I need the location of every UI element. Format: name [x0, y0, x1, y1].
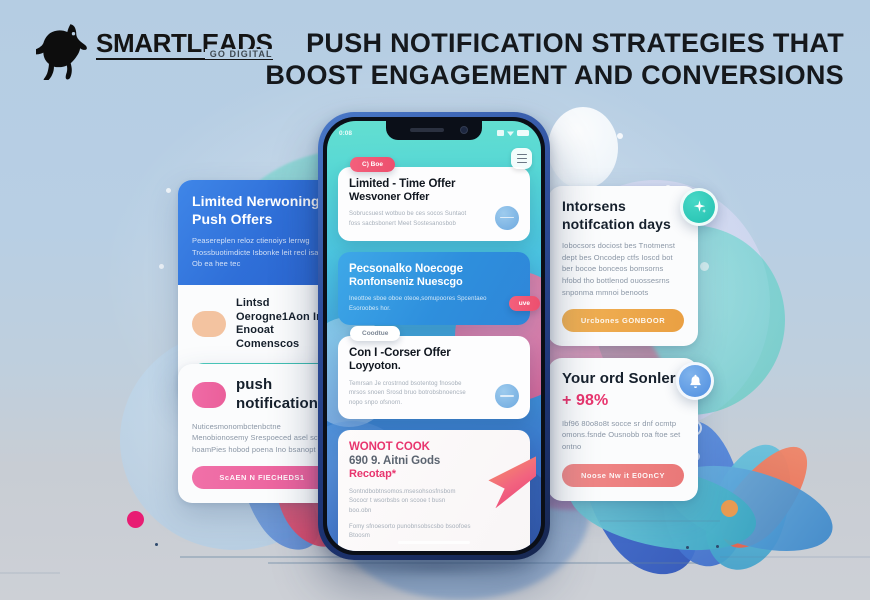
- decor-petal-orange: [706, 432, 824, 561]
- screen-card-personalized-message[interactable]: Pecsonalko Noecoge Ronfonseniz Nuescgo I…: [338, 252, 530, 326]
- screen-card-title: Limited - Time Offer: [349, 177, 519, 191]
- user-avatar-icon: [495, 206, 519, 230]
- avatar-line: [500, 217, 514, 219]
- avatar-line: [500, 395, 514, 397]
- user-avatar-icon: [495, 384, 519, 408]
- screen-card-body: Sontndbobtnsomos.msesohsosfnsbom Sococr …: [349, 488, 468, 517]
- sparkle-icon: [691, 199, 708, 216]
- screen-card-title: Pecsonalko Noecoge: [349, 262, 519, 276]
- decor-dot-white-4: [617, 133, 623, 139]
- screen-card-subtitle: Wesvoner Offer: [349, 191, 519, 204]
- earpiece-speaker: [410, 128, 444, 132]
- card-cta-button[interactable]: Urcbones GONBOOR: [562, 309, 684, 332]
- decor-dot-small-2: [686, 546, 689, 549]
- card-cta-button[interactable]: Noose Nw it E0OnCY: [562, 464, 684, 487]
- screen-card-title: WONOT COOK: [349, 440, 519, 454]
- screen-card-wonot-cook[interactable]: WONOT COOK 690 9. Aitni Gods Recotap* So…: [338, 430, 530, 551]
- card-title: Intorsens notifcation days: [562, 198, 684, 233]
- menu-line-2: [517, 158, 527, 160]
- decor-dot-small-1: [155, 543, 158, 546]
- card-cta-button[interactable]: ScAEN N FIECHEDS1: [192, 466, 332, 489]
- notification-bell-badge-icon: [676, 362, 714, 400]
- menu-line-3: [517, 162, 527, 164]
- decor-dot-white-2: [159, 264, 164, 269]
- decor-dot-small-3: [716, 545, 719, 548]
- decor-petal-cyan-2: [692, 433, 808, 581]
- card-content: Intorsens notifcation days Iobocsors doc…: [548, 186, 698, 346]
- brand-wordmark: SMARTLEADS GO DIGITAL: [96, 22, 273, 60]
- phone-screen[interactable]: 0:08 C) Boe Limited -: [327, 121, 541, 551]
- decor-dot-orange: [721, 500, 738, 517]
- screen-card-body: Ineottoe sboe oboe oteoe,somupoores Spce…: [349, 295, 492, 314]
- card-row: push notifications: [192, 376, 332, 414]
- screen-card-subtitle: Loyyoton.: [349, 360, 519, 373]
- screen-card-tag: C) Boe: [350, 157, 395, 172]
- menu-line-1: [517, 154, 527, 156]
- card-body: Nuticesmonombctenbctne Menobionosemy Sre…: [192, 421, 332, 456]
- screen-card-tag-right: uve: [509, 296, 540, 311]
- card-pill-icon: [192, 382, 226, 408]
- decor-ground-line-5: [0, 572, 60, 574]
- screen-card-body-2: Fomy sfnoesorto punobnsobscsbo bsoofoes …: [349, 523, 492, 542]
- decor-dot-white-5: [700, 262, 709, 271]
- card-metric: + 98%: [562, 391, 684, 411]
- screen-card-body: Temrsan Je crostrnod bsotentog fnosobe m…: [349, 380, 475, 409]
- screen-card-tag: Coodtue: [350, 326, 400, 341]
- banner-header: SMARTLEADS GO DIGITAL PUSH NOTIFICATION …: [0, 0, 870, 120]
- card-body: Iobocsors dociost bes Tnotmenst dept bes…: [562, 240, 684, 298]
- front-camera-icon: [460, 126, 468, 134]
- decor-dot-pink: [127, 511, 144, 528]
- screen-card-subtitle: Ronfonseniz Nuescgo: [349, 276, 519, 289]
- screen-card-conversion-offer[interactable]: Coodtue Con I -Corser Offer Loyyoton. Te…: [338, 336, 530, 419]
- bell-icon: [687, 373, 704, 390]
- sparkle-badge-icon: [680, 188, 718, 226]
- card-pill-icon: [192, 311, 226, 337]
- wifi-icon: [507, 130, 514, 136]
- phone-bezel: 0:08 C) Boe Limited -: [323, 117, 545, 555]
- screen-card-body: Sobrucsuest wotbuo be ces socos Suntaot …: [349, 210, 475, 229]
- floating-card-notification-days[interactable]: Intorsens notifcation days Iobocsors doc…: [548, 186, 698, 346]
- home-indicator[interactable]: [398, 541, 470, 545]
- screen-content: C) Boe Limited - Time Offer Wesvoner Off…: [327, 167, 541, 551]
- status-time: 0:08: [339, 130, 352, 137]
- decor-ground-line-4: [720, 556, 870, 558]
- phone-mockup: 0:08 C) Boe Limited -: [318, 112, 550, 560]
- battery-icon: [517, 130, 529, 136]
- banner-canvas: SMARTLEADS GO DIGITAL PUSH NOTIFICATION …: [0, 0, 870, 600]
- horse-logo-icon: [36, 22, 92, 80]
- screen-card-title: Con I -Corser Offer: [349, 346, 519, 360]
- decor-dot-white-1: [166, 188, 171, 193]
- screen-card-limited-time-offer[interactable]: C) Boe Limited - Time Offer Wesvoner Off…: [338, 167, 530, 241]
- card-title: Your ord Sonler: [562, 370, 684, 389]
- hamburger-menu-icon[interactable]: [511, 148, 532, 169]
- brand-logo[interactable]: SMARTLEADS GO DIGITAL: [36, 22, 273, 80]
- page-title: PUSH NOTIFICATION STRATEGIES THAT BOOST …: [264, 28, 844, 92]
- card-body: Ibf96 80o8o8t socce sr dnf ocmtp omons.f…: [562, 418, 684, 453]
- signal-icon: [497, 130, 504, 136]
- brand-tagline: GO DIGITAL: [205, 49, 273, 59]
- status-icons: [497, 130, 529, 136]
- decor-ground-line-3: [600, 520, 720, 522]
- phone-notch: [386, 121, 482, 140]
- screen-card-subtitle: 690 9. Aitni Gods: [349, 454, 519, 468]
